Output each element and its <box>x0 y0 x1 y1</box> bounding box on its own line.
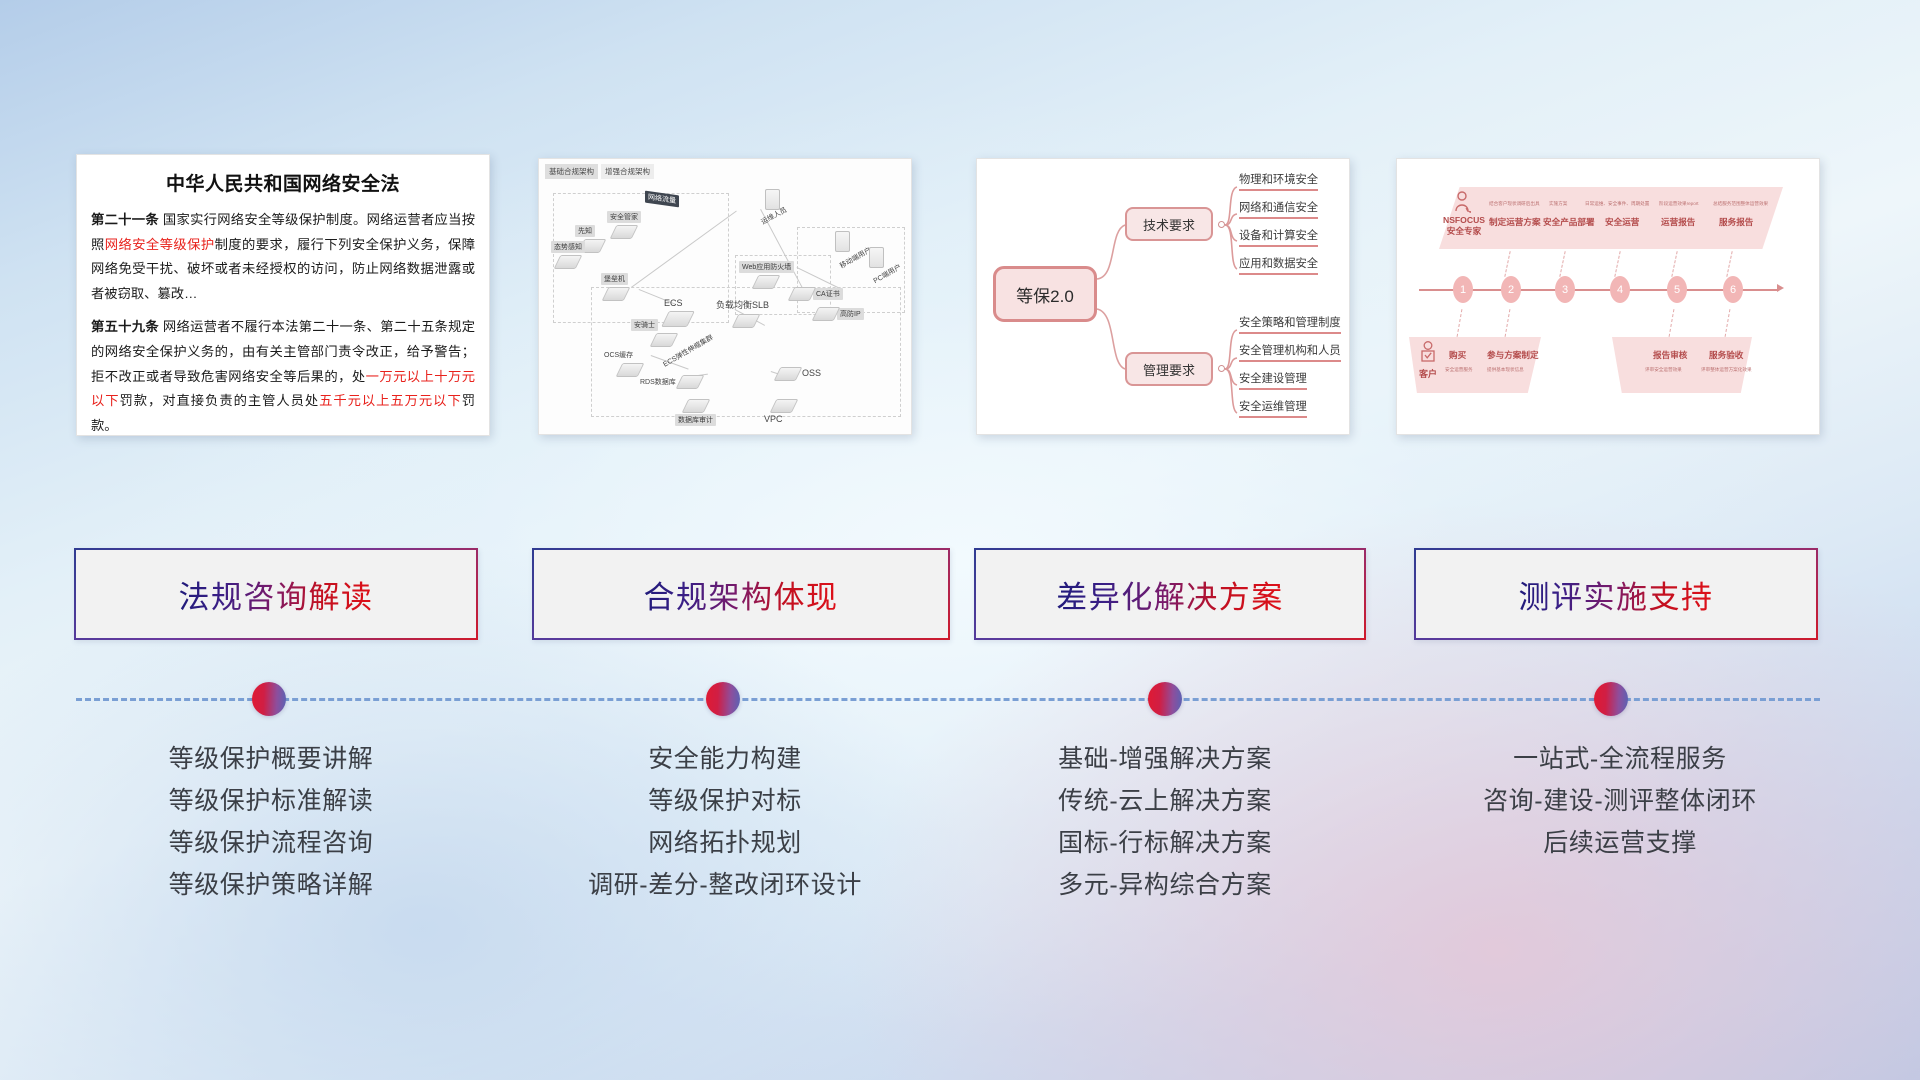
title-label-3: 差异化解决方案 <box>1056 572 1284 617</box>
architecture-tabs[interactable]: 基础合规架构 增强合规架构 <box>545 164 654 179</box>
title-box-evaluation-support[interactable]: 测评实施支持 <box>1414 548 1818 640</box>
arch-node-situation-awareness: 态势感知 <box>551 241 585 269</box>
title-box-differentiated-solution[interactable]: 差异化解决方案 <box>974 548 1366 640</box>
title-label-2: 合规架构体现 <box>644 572 839 617</box>
timeline-tick-2 <box>1504 251 1510 277</box>
arch-node-security-butler: 安全管家 <box>607 211 641 239</box>
card-nsfocus-service-timeline[interactable]: NSFOCUS安全专家 客户 1 2 3 4 5 6 <box>1396 158 1820 435</box>
list-item: 一站式-全流程服务 <box>1420 738 1820 780</box>
top-sub-5: 总结服务范围整体运营效果 <box>1713 201 1768 207</box>
arch-node-oss: OSS <box>777 367 824 381</box>
article-21-highlight: 网络安全等级保护 <box>105 237 215 252</box>
arch-node-ops-personnel: 运维人员 <box>757 189 791 222</box>
mindmap-leaf-device-compute: 设备和计算安全 <box>1239 227 1318 247</box>
timeline-tick-4 <box>1614 251 1620 277</box>
law-title: 中华人民共和国网络安全法 <box>77 169 489 196</box>
arch-node-anqishi: 安骑士 <box>631 319 675 347</box>
timeline-tick-b2 <box>1505 309 1511 337</box>
detail-list-column-2: 安全能力构建 等级保护对标 网络拓扑规划 调研-差分-整改闭环设计 <box>530 738 920 906</box>
timeline-node-1[interactable] <box>252 682 286 716</box>
timeline-tick-5 <box>1671 251 1677 277</box>
mindmap-collapse-dot-management[interactable] <box>1218 365 1225 372</box>
timeline-step-6: 6 <box>1723 276 1743 303</box>
card-cybersecurity-law[interactable]: 中华人民共和国网络安全法 第二十一条 国家实行网络安全等级保护制度。网络运营者应… <box>76 154 490 436</box>
bottom-title-4: 服务验收 <box>1709 349 1743 361</box>
arch-node-database-audit: 数据库审计 <box>675 399 716 426</box>
top-sub-2: 实施方案 <box>1549 201 1567 207</box>
list-item: 等级保护标准解读 <box>76 780 466 822</box>
timeline-tick-b5 <box>1669 309 1675 337</box>
timeline-strip <box>0 668 1920 732</box>
card-dengbao-mindmap[interactable]: 等保2.0 技术要求 物理和环境安全 网络和通信安全 设备和计算安全 应用和数据… <box>976 158 1350 435</box>
top-title-4: 运营报告 <box>1661 216 1695 228</box>
mindmap-branch-management: 管理要求 <box>1125 352 1213 386</box>
mindmap-leaf-app-data: 应用和数据安全 <box>1239 255 1318 275</box>
arch-node-ca-certificate: CA证书 <box>791 287 843 301</box>
mindmap-leaf-construction-mgmt: 安全建设管理 <box>1239 370 1307 390</box>
mindmap-leaf-ops-mgmt: 安全运维管理 <box>1239 398 1307 418</box>
bottom-title-2: 参与方案制定 <box>1487 349 1539 361</box>
mindmap-collapse-dot-technical[interactable] <box>1218 221 1225 228</box>
timeline-step-3: 3 <box>1555 276 1575 303</box>
list-item: 咨询-建设-测评整体闭环 <box>1420 780 1820 822</box>
top-sub-4: 阶段运营效果report <box>1659 201 1699 207</box>
law-article-21: 第二十一条 国家实行网络安全等级保护制度。网络运营者应当按照网络安全等级保护制度… <box>91 208 475 306</box>
list-item: 网络拓扑规划 <box>530 822 920 864</box>
list-item: 基础-增强解决方案 <box>970 738 1360 780</box>
timeline-node-4[interactable] <box>1594 682 1628 716</box>
detail-list-column-3: 基础-增强解决方案 传统-云上解决方案 国标-行标解决方案 多元-异构综合方案 <box>970 738 1360 906</box>
timeline-tick-b6 <box>1725 309 1731 337</box>
top-title-3: 安全运营 <box>1605 216 1639 228</box>
mindmap-leaf-network-comm: 网络和通信安全 <box>1239 199 1318 219</box>
list-item: 后续运营支撑 <box>1420 822 1820 864</box>
mindmap-leaf-physical-env: 物理和环境安全 <box>1239 171 1318 191</box>
bottom-sub-1: 安全运营服务 <box>1445 367 1473 373</box>
bottom-sub-3: 评审安全运营效果 <box>1645 367 1682 373</box>
architecture-diagram: 基础合规架构 增强合规架构 网络流量 安全管家 <box>539 159 911 434</box>
timeline-step-1: 1 <box>1453 276 1473 303</box>
top-title-2: 安全产品部署 <box>1543 216 1595 228</box>
top-title-5: 服务报告 <box>1719 216 1753 228</box>
timeline-node-3[interactable] <box>1148 682 1182 716</box>
arch-node-anti-ddos-ip: 高防IP <box>815 307 864 321</box>
mindmap-branch-technical: 技术要求 <box>1125 207 1213 241</box>
article-21-label: 第二十一条 <box>91 212 159 227</box>
arch-node-network-traffic: 网络流量 <box>645 193 679 205</box>
timeline-tick-3 <box>1559 251 1565 277</box>
bottom-sub-4: 评审整体运营方案化效果 <box>1701 367 1752 373</box>
detail-list-column-1: 等级保护概要讲解 等级保护标准解读 等级保护流程咨询 等级保护策略详解 <box>76 738 466 906</box>
article-59-label: 第五十九条 <box>91 319 159 334</box>
article-59-text-2: 罚款，对直接负责的主管人员处 <box>120 393 320 408</box>
list-item: 调研-差分-整改闭环设计 <box>530 864 920 906</box>
nsfocus-timeline: NSFOCUS安全专家 客户 1 2 3 4 5 6 <box>1397 159 1819 434</box>
customer-person-icon <box>1419 341 1437 365</box>
customer-role-label: 客户 <box>1419 367 1437 380</box>
mindmap: 等保2.0 技术要求 物理和环境安全 网络和通信安全 设备和计算安全 应用和数据… <box>977 159 1349 434</box>
mindmap-leaf-org-personnel: 安全管理机构和人员 <box>1239 342 1341 362</box>
list-item: 等级保护概要讲解 <box>76 738 466 780</box>
title-box-regulation-consulting[interactable]: 法规咨询解读 <box>74 548 478 640</box>
bottom-title-3: 报告审核 <box>1653 349 1687 361</box>
timeline-dashed-line <box>76 698 1820 701</box>
mindmap-root-node: 等保2.0 <box>993 266 1097 322</box>
mindmap-leaf-policy-system: 安全策略和管理制度 <box>1239 314 1341 334</box>
timeline-tick-b1 <box>1457 309 1463 337</box>
list-item: 传统-云上解决方案 <box>970 780 1360 822</box>
list-item: 等级保护策略详解 <box>76 864 466 906</box>
timeline-arrow-icon <box>1777 284 1784 292</box>
arch-node-vpc: VPC <box>761 399 795 425</box>
card-cloud-architecture[interactable]: 基础合规架构 增强合规架构 网络流量 安全管家 <box>538 158 912 435</box>
article-59-highlight-2: 五千元以上五万元以下 <box>319 393 462 408</box>
top-title-1: 制定运营方案 <box>1489 216 1541 228</box>
timeline-step-2: 2 <box>1501 276 1521 303</box>
title-label-4: 测评实施支持 <box>1519 572 1714 617</box>
arch-node-waf: Web应用防火墙 <box>739 261 794 289</box>
detail-list-column-4: 一站式-全流程服务 咨询-建设-测评整体闭环 后续运营支撑 <box>1420 738 1820 864</box>
list-item: 多元-异构综合方案 <box>970 864 1360 906</box>
timeline-tick-6 <box>1726 251 1732 277</box>
tab-basic-architecture[interactable]: 基础合规架构 <box>545 164 598 179</box>
title-label-1: 法规咨询解读 <box>179 572 374 617</box>
top-sub-3: 日常运维、安全事件、周期处置 <box>1585 201 1649 207</box>
law-article-59: 第五十九条 网络运营者不履行本法第二十一条、第二十五条规定的网络安全保护义务的，… <box>91 315 475 436</box>
timeline-step-5: 5 <box>1667 276 1687 303</box>
bottom-sub-2: 提供基本现状信息 <box>1487 367 1524 373</box>
timeline-node-2[interactable] <box>706 682 740 716</box>
reference-cards-row: 中华人民共和国网络安全法 第二十一条 国家实行网络安全等级保护制度。网络运营者应… <box>0 152 1920 442</box>
timeline-step-4: 4 <box>1610 276 1630 303</box>
list-item: 等级保护流程咨询 <box>76 822 466 864</box>
bottom-title-1: 购买 <box>1449 349 1466 361</box>
nsfocus-customer-band-2 <box>1612 337 1752 393</box>
arch-node-rds-database: RDS数据库 <box>637 375 701 389</box>
arch-node-ecs-scaling-cluster: ECS弹性伸缩集群 <box>657 345 719 357</box>
expert-role-label: NSFOCUS安全专家 <box>1441 215 1487 236</box>
list-item: 国标-行标解决方案 <box>970 822 1360 864</box>
list-item: 安全能力构建 <box>530 738 920 780</box>
detail-lists-row: 等级保护概要讲解 等级保护标准解读 等级保护流程咨询 等级保护策略详解 安全能力… <box>0 738 1920 988</box>
tab-enhanced-architecture[interactable]: 增强合规架构 <box>601 164 654 179</box>
law-body: 第二十一条 国家实行网络安全等级保护制度。网络运营者应当按照网络安全等级保护制度… <box>77 208 489 436</box>
expert-person-icon <box>1453 191 1471 213</box>
list-item: 等级保护对标 <box>530 780 920 822</box>
arch-node-ocs-cache: OCS缓存 <box>601 349 641 377</box>
top-sub-1: 结合客户现状调研后出具 <box>1489 201 1540 207</box>
arch-node-pc-user: PC端用户 <box>869 247 906 280</box>
arch-node-slb: 负载均衡SLB <box>713 297 772 328</box>
title-box-compliance-architecture[interactable]: 合规架构体现 <box>532 548 950 640</box>
arch-node-bastion-host: 堡垒机 <box>601 273 628 301</box>
title-boxes-row: 法规咨询解读 合规架构体现 差异化解决方案 测评实施支持 <box>0 548 1920 640</box>
